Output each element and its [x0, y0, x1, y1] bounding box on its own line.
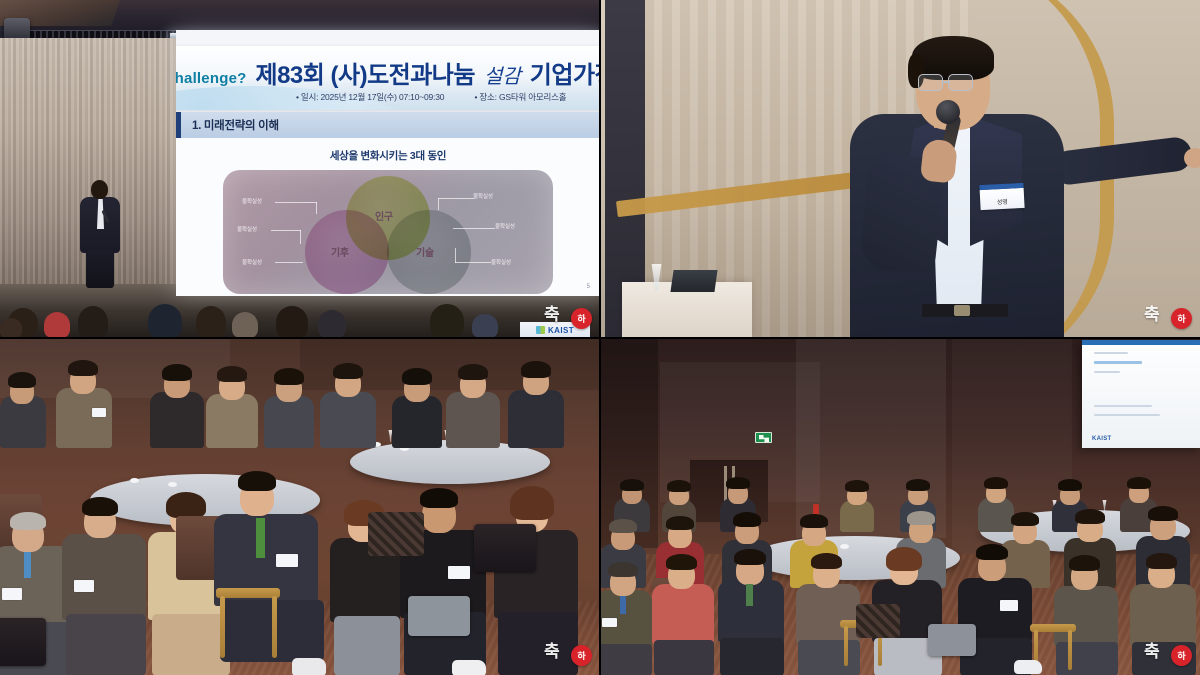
audience-person	[62, 492, 146, 675]
audience-head	[78, 306, 108, 338]
audience-person	[600, 560, 652, 675]
backpack	[0, 618, 46, 666]
person-hair	[333, 363, 363, 379]
panel-stage-slide: Why We Challenge? 제83회 (사)도전과나눔 설감 기업가정신…	[0, 0, 600, 338]
banner-english-tagline: Why We Challenge?	[176, 70, 246, 87]
person-hair	[238, 471, 276, 491]
name-badge	[74, 580, 94, 592]
venn-leader-line	[453, 228, 495, 229]
handbag	[474, 524, 536, 572]
person-hair	[521, 361, 551, 378]
name-badge	[1000, 600, 1018, 611]
audience-row-back	[0, 352, 600, 448]
venn-annotation: 불확실성	[491, 258, 511, 266]
audience-person	[56, 356, 112, 448]
venn-leader-line	[271, 230, 301, 231]
person-hair	[1148, 506, 1178, 521]
laptop	[670, 270, 717, 292]
panel-divider-horizontal	[0, 337, 1200, 339]
person-legs	[66, 614, 146, 675]
person-hair	[609, 519, 637, 533]
audience-person	[320, 360, 376, 448]
person-hair	[726, 477, 750, 489]
audience-head	[232, 312, 258, 338]
banner-subline: • 일시: 2025년 12월 17일(수) 07:10~09:30 • 장소:…	[296, 91, 566, 103]
event-banner: Why We Challenge? 제83회 (사)도전과나눔 설감 기업가정신…	[176, 46, 600, 110]
audience-person	[508, 358, 564, 448]
person-hair	[1127, 477, 1151, 489]
venn-leader-line	[300, 230, 301, 244]
shoe	[452, 660, 486, 675]
chair-leg	[844, 626, 848, 666]
stage-presenter	[78, 180, 122, 288]
necktie	[256, 518, 265, 558]
person-hair	[420, 488, 458, 508]
banner-korean-title: 제83회 (사)도전과나눔	[255, 55, 475, 90]
kaist-logo-text: KAIST	[548, 326, 574, 335]
audience-head	[430, 304, 464, 338]
venn-diagram: 인구 기후 기술 불확실성 불확실성 불확실성 불확실성 불확실성 불확실성	[223, 170, 553, 294]
projection-screen: KAIST	[1082, 340, 1200, 448]
person-hair	[733, 512, 761, 527]
handbag	[856, 604, 900, 638]
audience-head	[472, 314, 498, 338]
person-legs	[1056, 642, 1118, 675]
name-badge	[602, 618, 617, 627]
kaist-venue-sign: KAIST	[520, 322, 590, 338]
banner-title-row: Why We Challenge? 제83회 (사)도전과나눔 설감 기업가정신	[176, 55, 600, 90]
chair-leg	[272, 596, 277, 658]
audience-person	[1130, 550, 1196, 675]
banner-korean-title-tail: 기업가정신	[530, 55, 600, 90]
person-legs	[1132, 642, 1196, 675]
name-badge	[448, 566, 470, 579]
audience-row-front	[0, 438, 600, 675]
necktie	[620, 596, 626, 614]
person-hair	[162, 364, 192, 381]
person-hair	[666, 554, 697, 570]
screen-kaist-logo: KAIST	[1092, 436, 1112, 442]
person-hair	[68, 360, 98, 376]
person-legs	[654, 640, 714, 675]
chair-leg	[220, 596, 225, 658]
audience-person	[718, 546, 784, 675]
person-hair	[8, 372, 36, 388]
presenter-hair	[91, 180, 108, 199]
person-hair	[510, 486, 554, 520]
venn-label-climate: 기후	[331, 244, 349, 259]
banner-venue: • 장소: GS타워 아모리스홀	[474, 92, 566, 102]
handbag	[368, 512, 424, 556]
audience-person	[214, 468, 324, 675]
audience-person	[0, 370, 46, 448]
person-hair	[886, 547, 922, 571]
person-hair	[458, 364, 488, 380]
person-torso	[796, 584, 860, 644]
person-torso	[1054, 586, 1118, 646]
person-hair	[984, 477, 1008, 489]
person-hair	[906, 479, 930, 491]
panel-audience-wide: KAIST	[600, 338, 1200, 675]
audience-head	[196, 306, 226, 338]
speaker-right-hand	[1184, 148, 1200, 168]
venn-leader-line	[275, 202, 317, 203]
person-torso	[1130, 584, 1196, 646]
front-row-audience	[0, 282, 600, 338]
kaist-logo-icon	[536, 326, 545, 334]
slide-body: 세상을 변화시키는 3대 동인 인구 기후 기술 불확실성 불확실성 불확실성 …	[176, 138, 600, 296]
audience-person	[392, 368, 442, 448]
speaker-name-badge-text: 성명	[980, 196, 1024, 207]
screen-text-line	[1094, 361, 1142, 363]
audience-person	[264, 368, 314, 448]
panel-audience-front: 축 하	[0, 338, 600, 675]
screen-text-line	[1094, 371, 1120, 373]
eyeglasses-icon	[918, 74, 943, 91]
person-hair	[1146, 553, 1177, 569]
person-hair	[1075, 509, 1105, 524]
name-badge	[92, 408, 106, 417]
person-legs	[600, 644, 652, 675]
person-legs	[720, 638, 784, 675]
necktie	[24, 552, 31, 578]
screen-text-line	[1094, 352, 1128, 354]
speaker-belt	[922, 304, 1008, 317]
person-hair	[608, 562, 638, 577]
person-hair	[217, 366, 247, 382]
audience-person	[206, 364, 258, 448]
necktie	[746, 584, 753, 606]
speaker-name-badge: 성명	[979, 183, 1024, 210]
travel-bag	[408, 596, 470, 636]
person-hair	[402, 368, 432, 385]
person-legs	[798, 640, 860, 675]
venn-leader-line	[455, 262, 491, 263]
venn-label-technology: 기술	[416, 244, 434, 259]
person-hair	[620, 479, 644, 491]
audience-row-front	[600, 546, 1200, 675]
shoe	[292, 658, 326, 675]
exit-sign-icon	[755, 432, 772, 443]
audience-head	[44, 312, 70, 338]
audience-person	[796, 550, 860, 675]
person-hair	[811, 553, 842, 569]
name-badge	[276, 554, 298, 567]
person-hair	[907, 511, 935, 525]
banner-script-word: 설감	[484, 60, 521, 89]
name-badge	[2, 588, 22, 600]
screen-text-line	[1094, 414, 1160, 416]
audience-head	[318, 310, 346, 338]
audience-head	[148, 304, 182, 338]
person-hair	[976, 544, 1008, 560]
eyeglasses-bridge	[942, 81, 950, 83]
venn-annotation: 불확실성	[473, 192, 493, 200]
venn-leader-line	[438, 198, 439, 210]
projected-slide: Why We Challenge? 제83회 (사)도전과나눔 설감 기업가정신…	[176, 30, 600, 296]
banner-date: • 일시: 2025년 12월 17일(수) 07:10~09:30	[296, 92, 444, 102]
slide-section-heading-text: 1. 미래전략의 이해	[192, 117, 279, 133]
person-hair	[82, 497, 118, 516]
speaker-left-hand	[920, 138, 958, 183]
person-hair	[734, 549, 766, 565]
person-hair	[667, 480, 691, 492]
venn-label-population: 인구	[375, 208, 393, 223]
person-legs	[498, 612, 578, 675]
person-hair	[166, 492, 206, 518]
screen-text-line	[1094, 405, 1152, 407]
venn-leader-line	[275, 262, 303, 263]
audience-person	[494, 486, 578, 675]
person-hair	[1011, 512, 1039, 526]
person-torso	[62, 534, 146, 620]
audience-head	[276, 306, 308, 338]
chair	[216, 588, 280, 598]
person-hair	[845, 480, 869, 492]
venn-annotation: 불확실성	[237, 225, 257, 233]
venn-leader-line	[438, 198, 474, 199]
person-hair	[274, 368, 304, 385]
venn-leader-line	[316, 202, 317, 214]
chart-title: 세상을 변화시키는 3대 동인	[176, 148, 600, 163]
venn-annotation: 불확실성	[242, 197, 262, 205]
speaker-figure: 성명	[830, 36, 1130, 338]
venn-leader-line	[455, 248, 456, 263]
person-hair	[10, 512, 46, 530]
eyeglasses-icon	[948, 74, 973, 91]
photo-collage: Why We Challenge? 제83회 (사)도전과나눔 설감 기업가정신…	[0, 0, 1200, 675]
audience-person	[150, 362, 204, 448]
person-hair	[666, 516, 694, 530]
venn-annotation: 불확실성	[495, 222, 515, 230]
audience-person	[1054, 552, 1118, 675]
person-torso	[652, 584, 714, 644]
panel-keynote-speaker: 성명 축 하	[600, 0, 1200, 338]
audience-person	[652, 552, 714, 675]
travel-bag	[928, 624, 976, 656]
chair-leg	[1068, 630, 1072, 670]
shoe	[1014, 660, 1042, 674]
person-hair	[800, 514, 828, 528]
slide-section-heading: 1. 미래전략의 이해	[176, 112, 600, 138]
venn-annotation: 불확실성	[242, 258, 262, 266]
audience-person	[446, 362, 500, 448]
person-legs	[334, 616, 400, 675]
audience-head	[0, 318, 22, 338]
person-hair	[1069, 555, 1100, 571]
person-hair	[1058, 479, 1082, 491]
